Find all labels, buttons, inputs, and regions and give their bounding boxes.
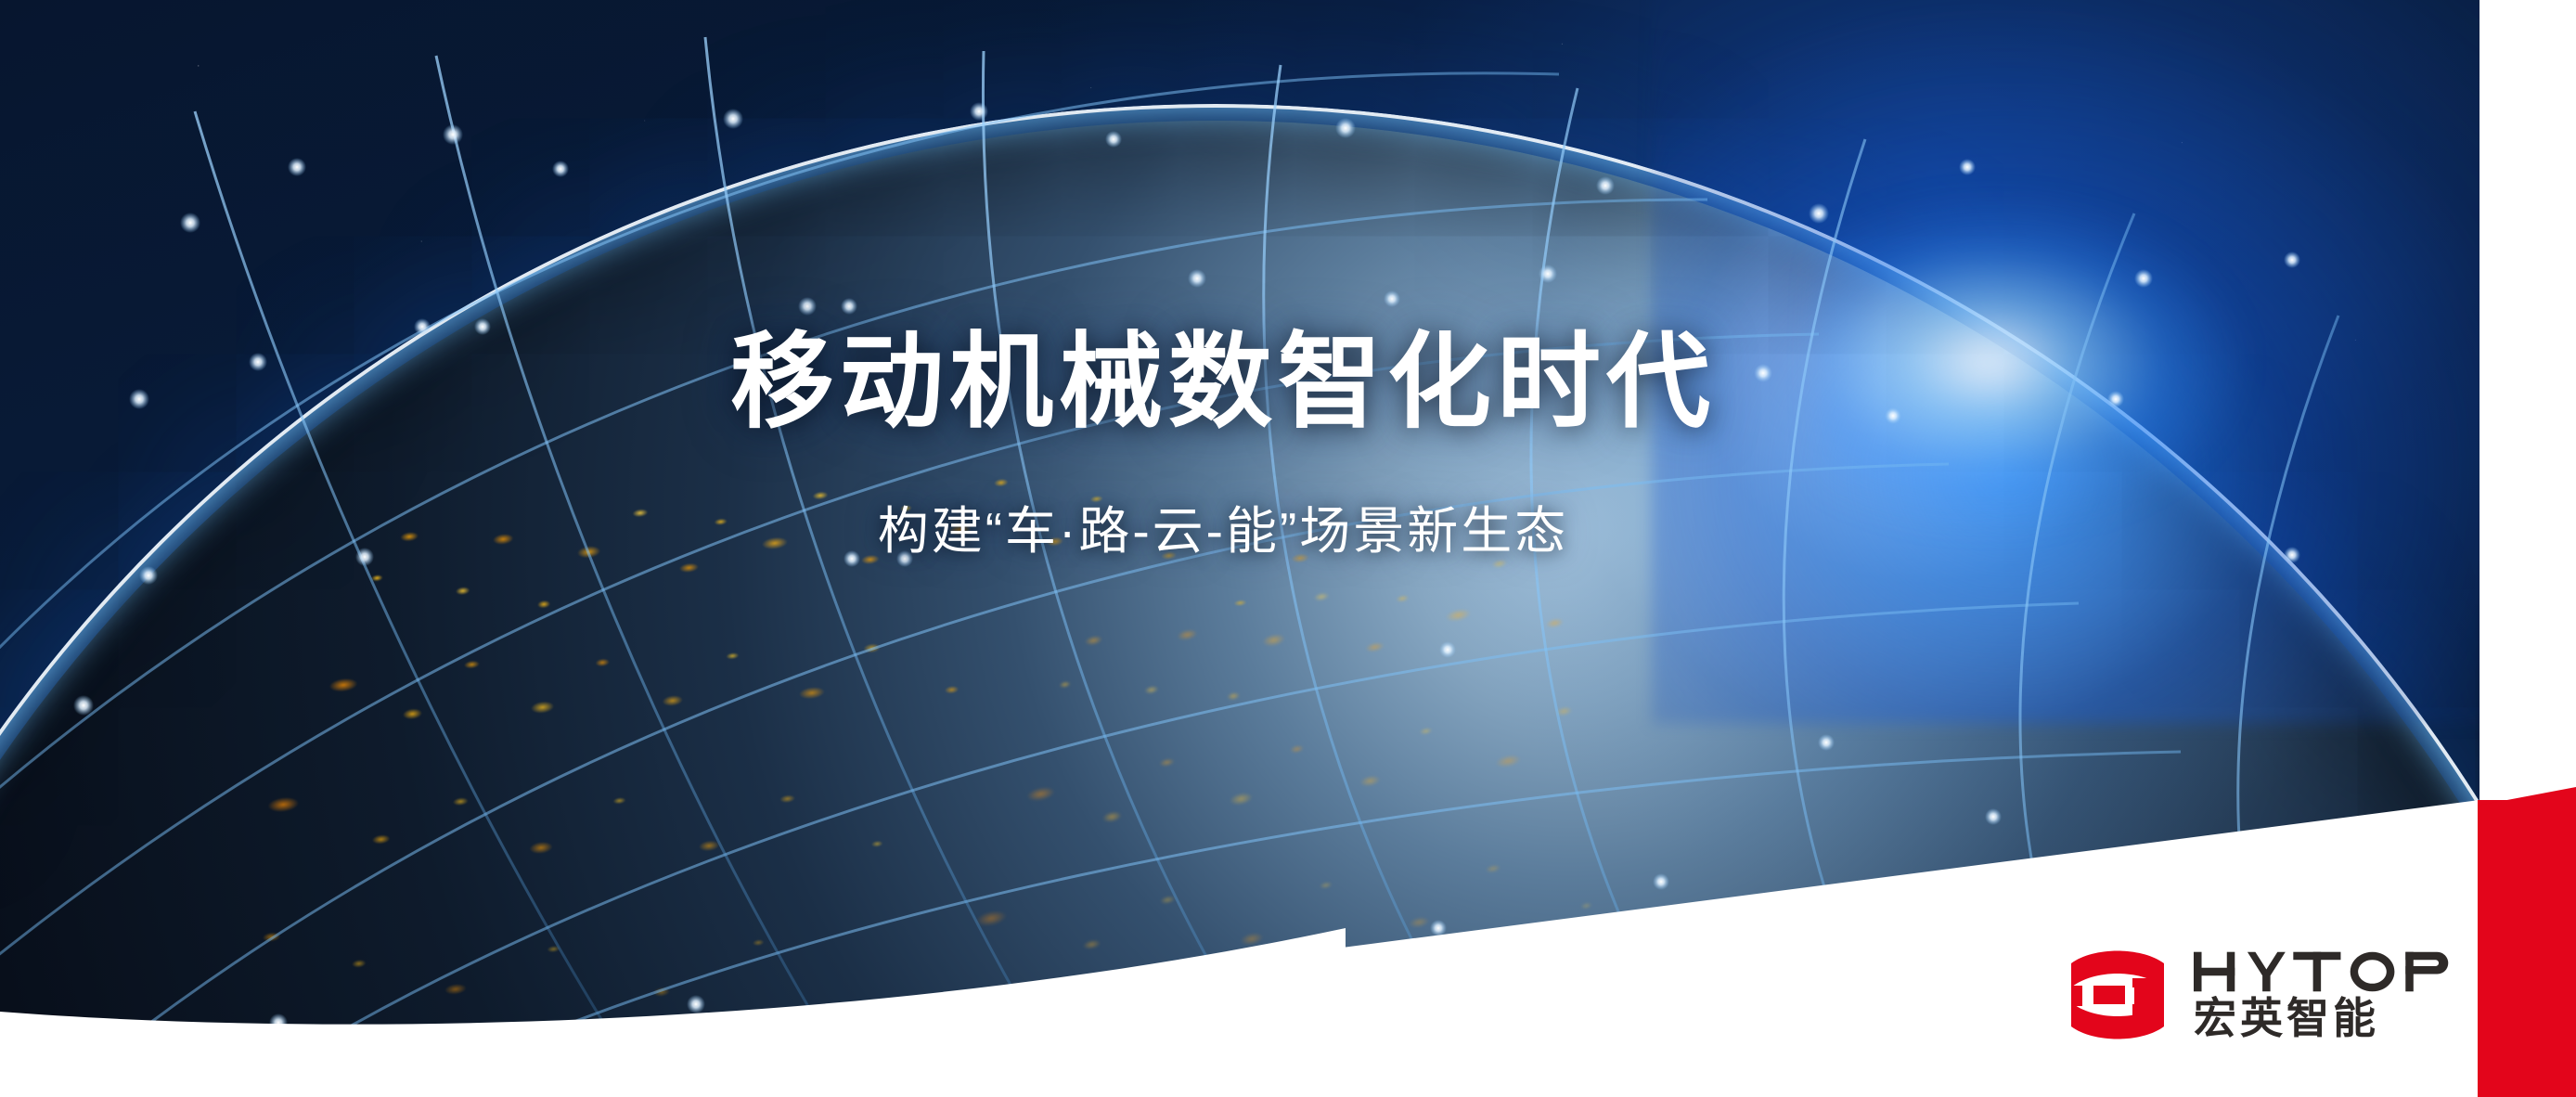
logo-chinese-name: 宏英智能 (2194, 997, 2463, 1039)
earth-hero-image: 移动机械数智化时代 构建“车·路-云-能”场景新生态 (0, 0, 2479, 1097)
brand-logo: 宏英智能 (2067, 939, 2463, 1051)
presentation-slide: 移动机械数智化时代 构建“车·路-云-能”场景新生态 (0, 0, 2576, 1097)
hytop-logo-mark-icon (2067, 939, 2168, 1051)
red-accent-bar (2478, 800, 2576, 1097)
globe (0, 0, 2479, 1097)
hytop-latin-wordmark (2194, 950, 2463, 993)
logo-wordmark: 宏英智能 (2194, 950, 2463, 1039)
